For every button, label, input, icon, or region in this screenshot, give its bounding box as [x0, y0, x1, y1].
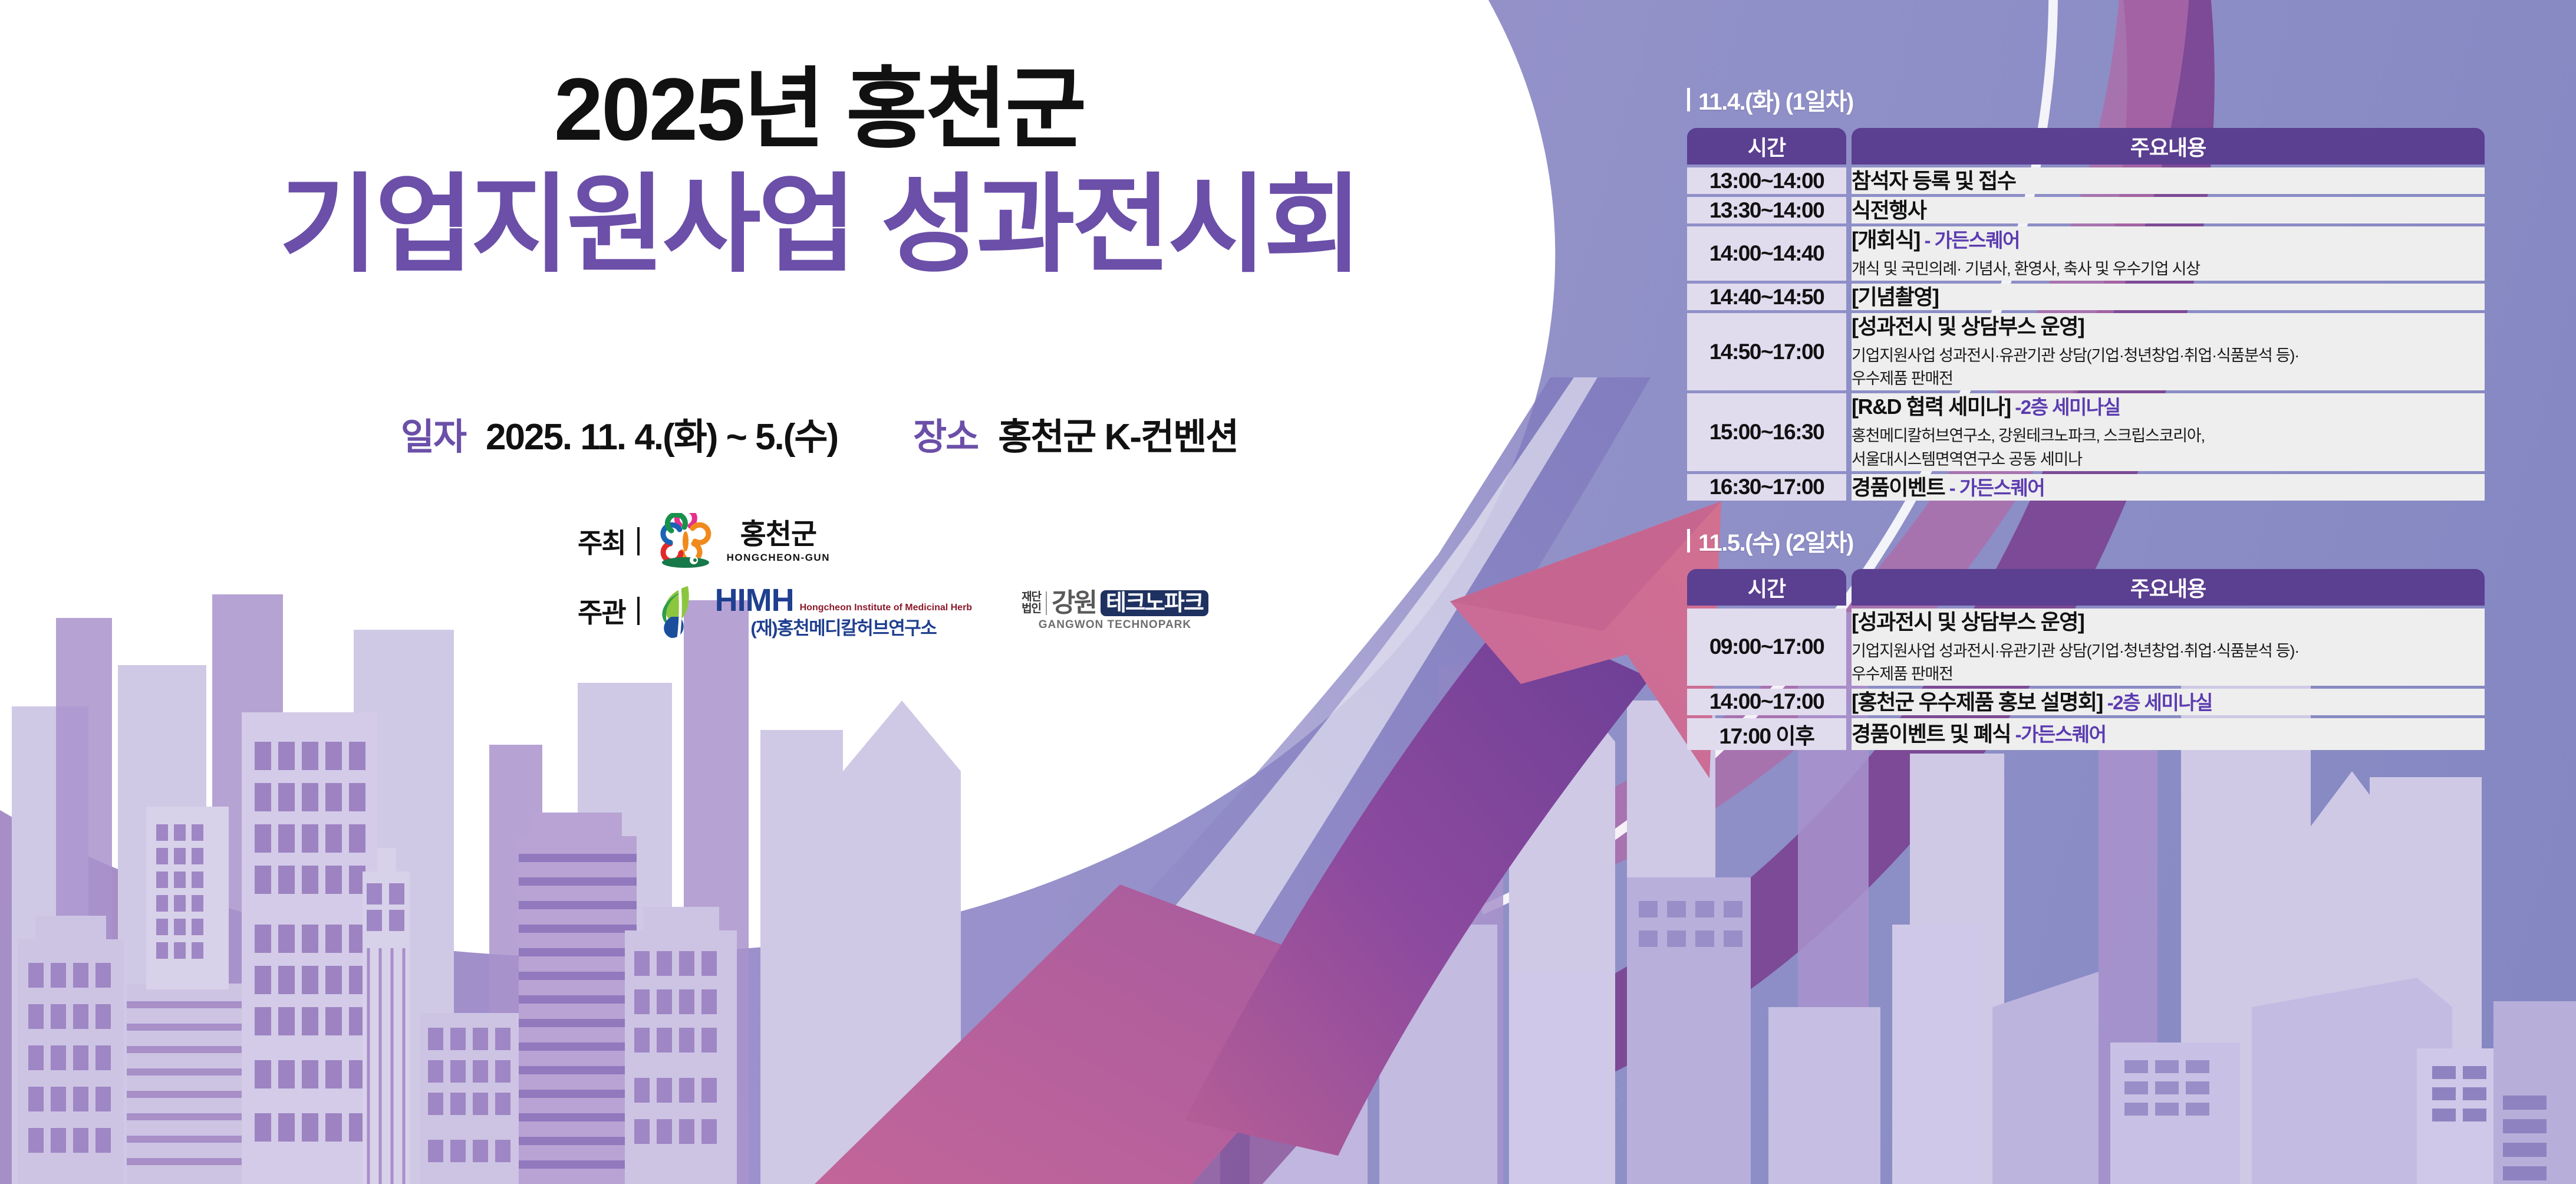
column-gap [1846, 128, 1852, 165]
cell-content: 경품이벤트 - 가든스퀘어 [1852, 474, 2485, 501]
content-title: [성과전시 및 상담부스 운영] [1852, 313, 2485, 340]
cell-time: 14:50~17:00 [1687, 313, 1846, 390]
cell-time: 14:00~17:00 [1687, 689, 1846, 715]
day-tick-marker [1687, 529, 1690, 552]
content-location: - 가든스퀘어 [1945, 477, 2044, 499]
cell-time: 14:00~14:40 [1687, 226, 1846, 281]
hongcheon-logo-korean: 홍천군 [740, 521, 816, 549]
cell-content: [개회식] - 가든스퀘어개식 및 국민의례· 기념사, 환영사, 축사 및 우… [1852, 226, 2485, 281]
cell-gap [1846, 226, 1852, 281]
table-row: 14:00~17:00[홍천군 우수제품 홍보 설명회] -2층 세미나실 [1687, 689, 2485, 715]
content-title: 참석자 등록 및 접수 [1852, 167, 2485, 194]
page-title-line2: 기업지원사업 성과전시회 [0, 171, 1639, 278]
column-gap [1846, 569, 1852, 606]
content-title: [성과전시 및 상담부스 운영] [1852, 609, 2485, 635]
cell-gap [1846, 609, 1852, 686]
content-details: 기업지원사업 성과전시·유관기관 상담(기업·청년창업·취업·식품분석 등)·우… [1852, 640, 2485, 686]
content-title: [기념촬영] [1852, 284, 2485, 310]
page-title-line1: 2025년 홍천군 [0, 65, 1639, 153]
divider-bar [637, 597, 640, 625]
table-row: 14:40~14:50[기념촬영] [1687, 284, 2485, 310]
schedule-day-2: 11.5.(수) (2일차)시간주요내용09:00~17:00[성과전시 및 상… [1687, 524, 2489, 753]
content-detail-line: 기업지원사업 성과전시·유관기관 상담(기업·청년창업·취업·식품분석 등)· [1852, 640, 2485, 663]
column-header-time: 시간 [1687, 128, 1846, 165]
cell-time: 13:30~14:00 [1687, 197, 1846, 223]
cell-time: 14:40~14:50 [1687, 284, 1846, 310]
cell-content: [기념촬영] [1852, 284, 2485, 310]
cell-time: 16:30~17:00 [1687, 474, 1846, 501]
gtp-prefix-line1: 재단 [1022, 591, 1041, 603]
hongcheon-logo-english: HONGCHEON-GUN [727, 552, 830, 563]
gtp-prefix-line2: 법인 [1022, 603, 1041, 615]
organizer-label: 주관 [578, 591, 625, 630]
content-title: 경품이벤트 및 폐식 -가든스퀘어 [1852, 721, 2485, 747]
cell-content: [성과전시 및 상담부스 운영]기업지원사업 성과전시·유관기관 상담(기업·청… [1852, 609, 2485, 686]
himh-logo-text: HIMH Hongcheon Institute of Medicinal He… [715, 584, 972, 637]
content-title: 식전행사 [1852, 197, 2485, 223]
host-label-wrap: 주최 [578, 522, 640, 561]
cell-content: 식전행사 [1852, 197, 2485, 223]
cell-gap [1846, 689, 1852, 715]
himh-korean-name: (재)홍천메디칼허브연구소 [715, 619, 972, 637]
himh-abbreviation: HIMH [715, 584, 794, 616]
table-row: 15:00~16:30[R&D 협력 세미나] -2층 세미나실홍천메디칼허브연… [1687, 393, 2485, 471]
himh-english-name: Hongcheon Institute of Medicinal Herb [800, 603, 972, 613]
divider-bar [637, 527, 640, 555]
poster-canvas: 2025년 홍천군 기업지원사업 성과전시회 일자 2025. 11. 4.(화… [0, 0, 2576, 1184]
gtp-gangwon-korean: 강원 [1052, 590, 1096, 616]
day-label: 11.5.(수) (2일차) [1687, 524, 2489, 558]
table-row: 14:00~14:40[개회식] - 가든스퀘어개식 및 국민의례· 기념사, … [1687, 226, 2485, 281]
cell-time: 15:00~16:30 [1687, 393, 1846, 471]
venue-value: 홍천군 K-컨벤션 [998, 407, 1238, 460]
cell-gap [1846, 167, 1852, 194]
table-row: 14:50~17:00[성과전시 및 상담부스 운영]기업지원사업 성과전시·유… [1687, 313, 2485, 390]
gtp-english-name: GANGWON TECHNOPARK [1039, 619, 1191, 632]
content-details: 개식 및 국민의례· 기념사, 환영사, 축사 및 우수기업 시상 [1852, 258, 2485, 281]
cell-content: 경품이벤트 및 폐식 -가든스퀘어 [1852, 718, 2485, 750]
table-header-row: 시간주요내용 [1687, 128, 2485, 165]
content-location: -가든스퀘어 [2011, 723, 2106, 745]
day-label-text: 11.4.(화) (1일차) [1698, 83, 1853, 117]
cell-gap [1846, 718, 1852, 750]
content-detail-line: 개식 및 국민의례· 기념사, 환영사, 축사 및 우수기업 시상 [1852, 258, 2485, 281]
leaf-mark-icon [654, 583, 708, 639]
gtp-foundation-prefix: 재단 법인 [1022, 591, 1047, 615]
poster-headline-block: 2025년 홍천군 기업지원사업 성과전시회 일자 2025. 11. 4.(화… [0, 0, 1639, 696]
gtp-technopark-korean: 테크노파크 [1101, 590, 1208, 616]
cell-time: 09:00~17:00 [1687, 609, 1846, 686]
date-value: 2025. 11. 4.(화) ~ 5.(수) [486, 407, 838, 460]
day-tick-marker [1687, 88, 1690, 111]
column-header-time: 시간 [1687, 569, 1846, 606]
table-header-row: 시간주요내용 [1687, 569, 2485, 606]
cell-gap [1846, 197, 1852, 223]
cell-content: [성과전시 및 상담부스 운영]기업지원사업 성과전시·유관기관 상담(기업·청… [1852, 313, 2485, 390]
schedule-table: 시간주요내용13:00~14:00참석자 등록 및 접수13:30~14:00식… [1687, 125, 2485, 504]
table-row: 09:00~17:00[성과전시 및 상담부스 운영]기업지원사업 성과전시·유… [1687, 609, 2485, 686]
himh-logo: HIMH Hongcheon Institute of Medicinal He… [654, 583, 972, 639]
table-row: 17:00 이후경품이벤트 및 폐식 -가든스퀘어 [1687, 718, 2485, 750]
gangwon-technopark-logo: 재단 법인 강원 테크노파크 GANGWON TECHNOPARK [1022, 590, 1208, 632]
content-title: [개회식] - 가든스퀘어 [1852, 226, 2485, 253]
cell-gap [1846, 474, 1852, 501]
day-label-text: 11.5.(수) (2일차) [1698, 524, 1853, 558]
content-location: -2층 세미나실 [2103, 692, 2212, 713]
column-header-content: 주요내용 [1852, 128, 2485, 165]
cell-time: 13:00~14:00 [1687, 167, 1846, 194]
content-detail-line: 우수제품 판매전 [1852, 367, 2485, 390]
content-detail-line: 홍천메디칼허브연구소, 강원테크노파크, 스크립스코리아, [1852, 425, 2485, 448]
table-row: 13:30~14:00식전행사 [1687, 197, 2485, 223]
organizer-block: 주최 [0, 513, 1639, 639]
column-header-content: 주요내용 [1852, 569, 2485, 606]
himh-top-row: HIMH Hongcheon Institute of Medicinal He… [715, 584, 972, 616]
table-row: 16:30~17:00경품이벤트 - 가든스퀘어 [1687, 474, 2485, 501]
day-label: 11.4.(화) (1일차) [1687, 83, 2489, 117]
cell-time: 17:00 이후 [1687, 718, 1846, 750]
schedule-panel: 11.4.(화) (1일차)시간주요내용13:00~14:00참석자 등록 및 … [1687, 83, 2489, 753]
content-title: [홍천군 우수제품 홍보 설명회] -2층 세미나실 [1852, 689, 2485, 715]
content-location: - 가든스퀘어 [1920, 229, 2020, 251]
content-location: -2층 세미나실 [2011, 396, 2120, 418]
organizer-label-wrap: 주관 [578, 591, 640, 630]
hongcheon-gun-logo: 홍천군 HONGCHEON-GUN [654, 513, 830, 570]
cell-content: [홍천군 우수제품 홍보 설명회] -2층 세미나실 [1852, 689, 2485, 715]
event-meta-row: 일자 2025. 11. 4.(화) ~ 5.(수) 장소 홍천군 K-컨벤션 [0, 407, 1639, 460]
schedule-day-1: 11.4.(화) (1일차)시간주요내용13:00~14:00참석자 등록 및 … [1687, 83, 2489, 504]
cell-gap [1846, 393, 1852, 471]
cell-gap [1846, 284, 1852, 310]
host-row: 주최 [0, 513, 1639, 570]
gtp-top-row: 재단 법인 강원 테크노파크 [1022, 590, 1208, 616]
organizer-row: 주관 HIMH Hongcheon Institute of Medi [0, 583, 1639, 639]
content-title: 경품이벤트 - 가든스퀘어 [1852, 474, 2485, 501]
flower-mark-icon [654, 513, 717, 570]
content-title: [R&D 협력 세미나] -2층 세미나실 [1852, 393, 2485, 420]
venue-label: 장소 [913, 407, 978, 460]
schedule-table: 시간주요내용09:00~17:00[성과전시 및 상담부스 운영]기업지원사업 … [1687, 566, 2485, 753]
date-label: 일자 [401, 407, 466, 460]
content-detail-line: 우수제품 판매전 [1852, 663, 2485, 686]
cell-content: 참석자 등록 및 접수 [1852, 167, 2485, 194]
cell-content: [R&D 협력 세미나] -2층 세미나실홍천메디칼허브연구소, 강원테크노파크… [1852, 393, 2485, 471]
content-details: 홍천메디칼허브연구소, 강원테크노파크, 스크립스코리아,서울대시스템면역연구소… [1852, 425, 2485, 471]
content-detail-line: 기업지원사업 성과전시·유관기관 상담(기업·청년창업·취업·식품분석 등)· [1852, 344, 2485, 367]
content-detail-line: 서울대시스템면역연구소 공동 세미나 [1852, 448, 2485, 471]
table-row: 13:00~14:00참석자 등록 및 접수 [1687, 167, 2485, 194]
host-label: 주최 [578, 522, 625, 561]
content-details: 기업지원사업 성과전시·유관기관 상담(기업·청년창업·취업·식품분석 등)·우… [1852, 344, 2485, 390]
hongcheon-logo-text: 홍천군 HONGCHEON-GUN [727, 521, 830, 563]
cell-gap [1846, 313, 1852, 390]
